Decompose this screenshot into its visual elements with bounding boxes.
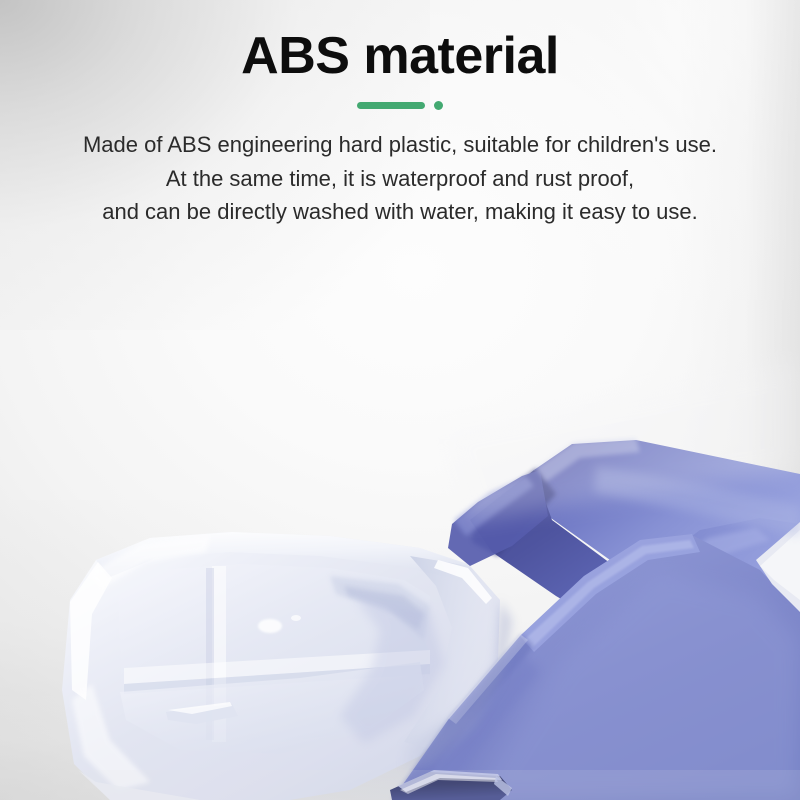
divider-dot-icon bbox=[434, 101, 443, 110]
product-feature-banner: ABS material Made of ABS engineering har… bbox=[0, 0, 800, 800]
description-line-1: Made of ABS engineering hard plastic, su… bbox=[0, 128, 800, 162]
page-title: ABS material bbox=[0, 0, 800, 85]
description-line-2: At the same time, it is waterproof and r… bbox=[0, 162, 800, 196]
divider bbox=[0, 94, 800, 116]
description-line-3: and can be directly washed with water, m… bbox=[0, 195, 800, 229]
header-block: ABS material Made of ABS engineering har… bbox=[0, 0, 800, 229]
divider-bar-icon bbox=[357, 102, 425, 109]
description-block: Made of ABS engineering hard plastic, su… bbox=[0, 116, 800, 229]
